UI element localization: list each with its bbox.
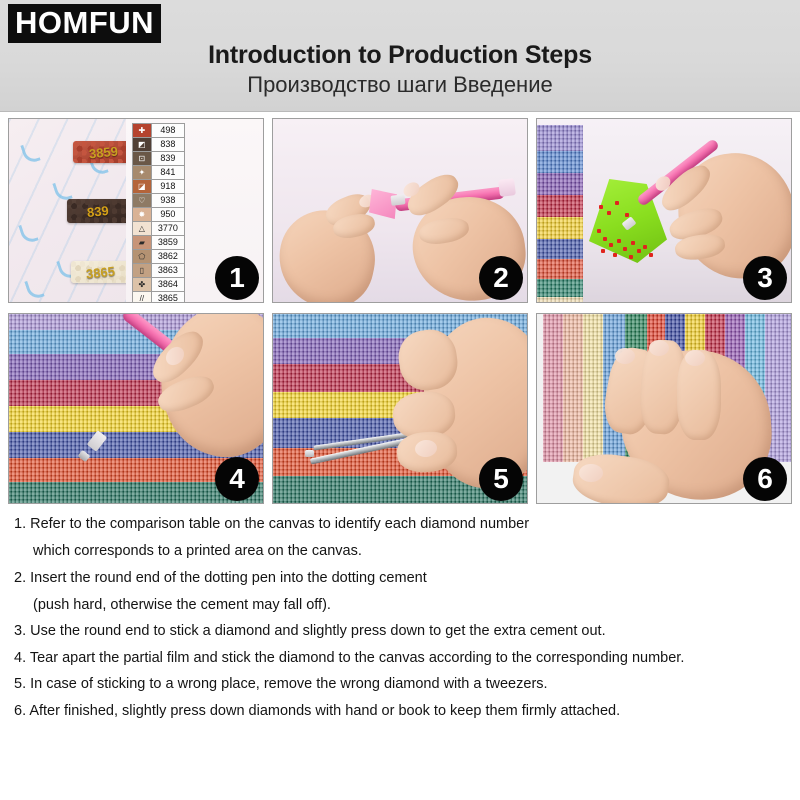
steps-image-grid: 3859 839 3865 ✚498◩838⊡839✦841◪918♡938✸9…	[8, 118, 792, 504]
dmc-number: 3864	[151, 278, 184, 292]
step-badge-6: 6	[743, 457, 787, 501]
dmc-number: 3863	[151, 264, 184, 278]
instruction-step: 1. Refer to the comparison table on the …	[14, 516, 790, 559]
instruction-step: 3. Use the round end to stick a diamond …	[14, 623, 790, 639]
instruction-sheet: HOMFUN Introduction to Production Steps …	[0, 0, 800, 800]
dmc-symbol-swatch: ♡	[132, 194, 151, 208]
instruction-step: 4. Tear apart the partial film and stick…	[14, 650, 790, 666]
dmc-row: ⊡839	[132, 152, 184, 166]
dmc-table: ✚498◩838⊡839✦841◪918♡938✸950△3770▰3859⬠3…	[132, 123, 185, 303]
dmc-row: ◪918	[132, 180, 184, 194]
dmc-symbol-swatch: ✚	[132, 124, 151, 138]
diamond-held	[305, 450, 314, 457]
dmc-number: 3865	[151, 292, 184, 304]
pen-cap	[498, 178, 516, 197]
dmc-symbol-swatch: ◪	[132, 180, 151, 194]
dmc-symbol-swatch: ⊡	[132, 152, 151, 166]
dmc-number: 3859	[151, 236, 184, 250]
step-badge-5: 5	[479, 457, 523, 501]
dmc-row: ✦841	[132, 166, 184, 180]
dmc-symbol-swatch: △	[132, 222, 151, 236]
instruction-step: 6. After finished, slightly press down d…	[14, 703, 790, 719]
diamond-bag: 3859	[73, 141, 133, 163]
step-photo-4: 4	[8, 313, 264, 504]
dmc-number: 498	[151, 124, 184, 138]
dmc-row: ✤3864	[132, 278, 184, 292]
instruction-line-continued: (push hard, otherwise the cement may fal…	[14, 597, 790, 613]
dmc-row: ♡938	[132, 194, 184, 208]
dmc-row: ◩838	[132, 138, 184, 152]
step-badge-1: 1	[215, 256, 259, 300]
dmc-row: ▰3859	[132, 236, 184, 250]
dmc-symbol-swatch: ⬠	[132, 250, 151, 264]
dmc-number: 918	[151, 180, 184, 194]
instruction-step: 5. In case of sticking to a wrong place,…	[14, 676, 790, 692]
fingernail	[685, 350, 705, 366]
page-title: Introduction to Production Steps	[0, 40, 800, 70]
dmc-row: ▯3863	[132, 264, 184, 278]
dmc-symbol-swatch: ✸	[132, 208, 151, 222]
step-photo-3: 3	[536, 118, 792, 303]
diamond-bag: 3865	[71, 261, 129, 283]
instruction-line-continued: which corresponds to a printed area on t…	[14, 543, 790, 559]
dmc-symbol-swatch: ✤	[132, 278, 151, 292]
fingernail	[649, 340, 669, 356]
instruction-line: 5. In case of sticking to a wrong place,…	[14, 676, 790, 692]
instruction-line: 3. Use the round end to stick a diamond …	[14, 623, 790, 639]
dmc-symbol-swatch: ✦	[132, 166, 151, 180]
dmc-row: ✚498	[132, 124, 184, 138]
diamond-bag: 839	[67, 199, 129, 223]
dmc-row: △3770	[132, 222, 184, 236]
step-photo-6: 6	[536, 313, 792, 504]
step-photo-2: 2	[272, 118, 528, 303]
dmc-number: 3862	[151, 250, 184, 264]
fingernail	[579, 464, 603, 482]
dmc-number: 938	[151, 194, 184, 208]
dmc-number: 950	[151, 208, 184, 222]
dmc-number: 839	[151, 152, 184, 166]
title-block: Introduction to Production Steps Произво…	[0, 40, 800, 99]
dmc-number: 3770	[151, 222, 184, 236]
step-badge-3: 3	[743, 256, 787, 300]
page-header: HOMFUN Introduction to Production Steps …	[0, 0, 800, 112]
dmc-symbol-swatch: ▰	[132, 236, 151, 250]
instruction-step: 2. Insert the round end of the dotting p…	[14, 570, 790, 613]
pen-tip	[390, 194, 405, 206]
fingernail	[615, 348, 635, 364]
instruction-line: 1. Refer to the comparison table on the …	[14, 516, 790, 532]
dmc-row: ✸950	[132, 208, 184, 222]
page-subtitle-russian: Производство шаги Введение	[0, 71, 800, 99]
instruction-line: 6. After finished, slightly press down d…	[14, 703, 790, 719]
instruction-line: 4. Tear apart the partial film and stick…	[14, 650, 790, 666]
dmc-symbol-swatch: ▯	[132, 264, 151, 278]
brand-logo: HOMFUN	[8, 4, 161, 43]
instructions-list: 1. Refer to the comparison table on the …	[14, 516, 790, 729]
step-badge-4: 4	[215, 457, 259, 501]
dmc-number: 838	[151, 138, 184, 152]
step-photo-1: 3859 839 3865 ✚498◩838⊡839✦841◪918♡938✸9…	[8, 118, 264, 303]
instruction-line: 2. Insert the round end of the dotting p…	[14, 570, 790, 586]
dmc-row: ⬠3862	[132, 250, 184, 264]
dmc-symbol-swatch: //	[132, 292, 151, 304]
dmc-symbol-swatch: ◩	[132, 138, 151, 152]
step-photo-5: 5	[272, 313, 528, 504]
dmc-row: //3865	[132, 292, 184, 304]
step-badge-2: 2	[479, 256, 523, 300]
dmc-number: 841	[151, 166, 184, 180]
